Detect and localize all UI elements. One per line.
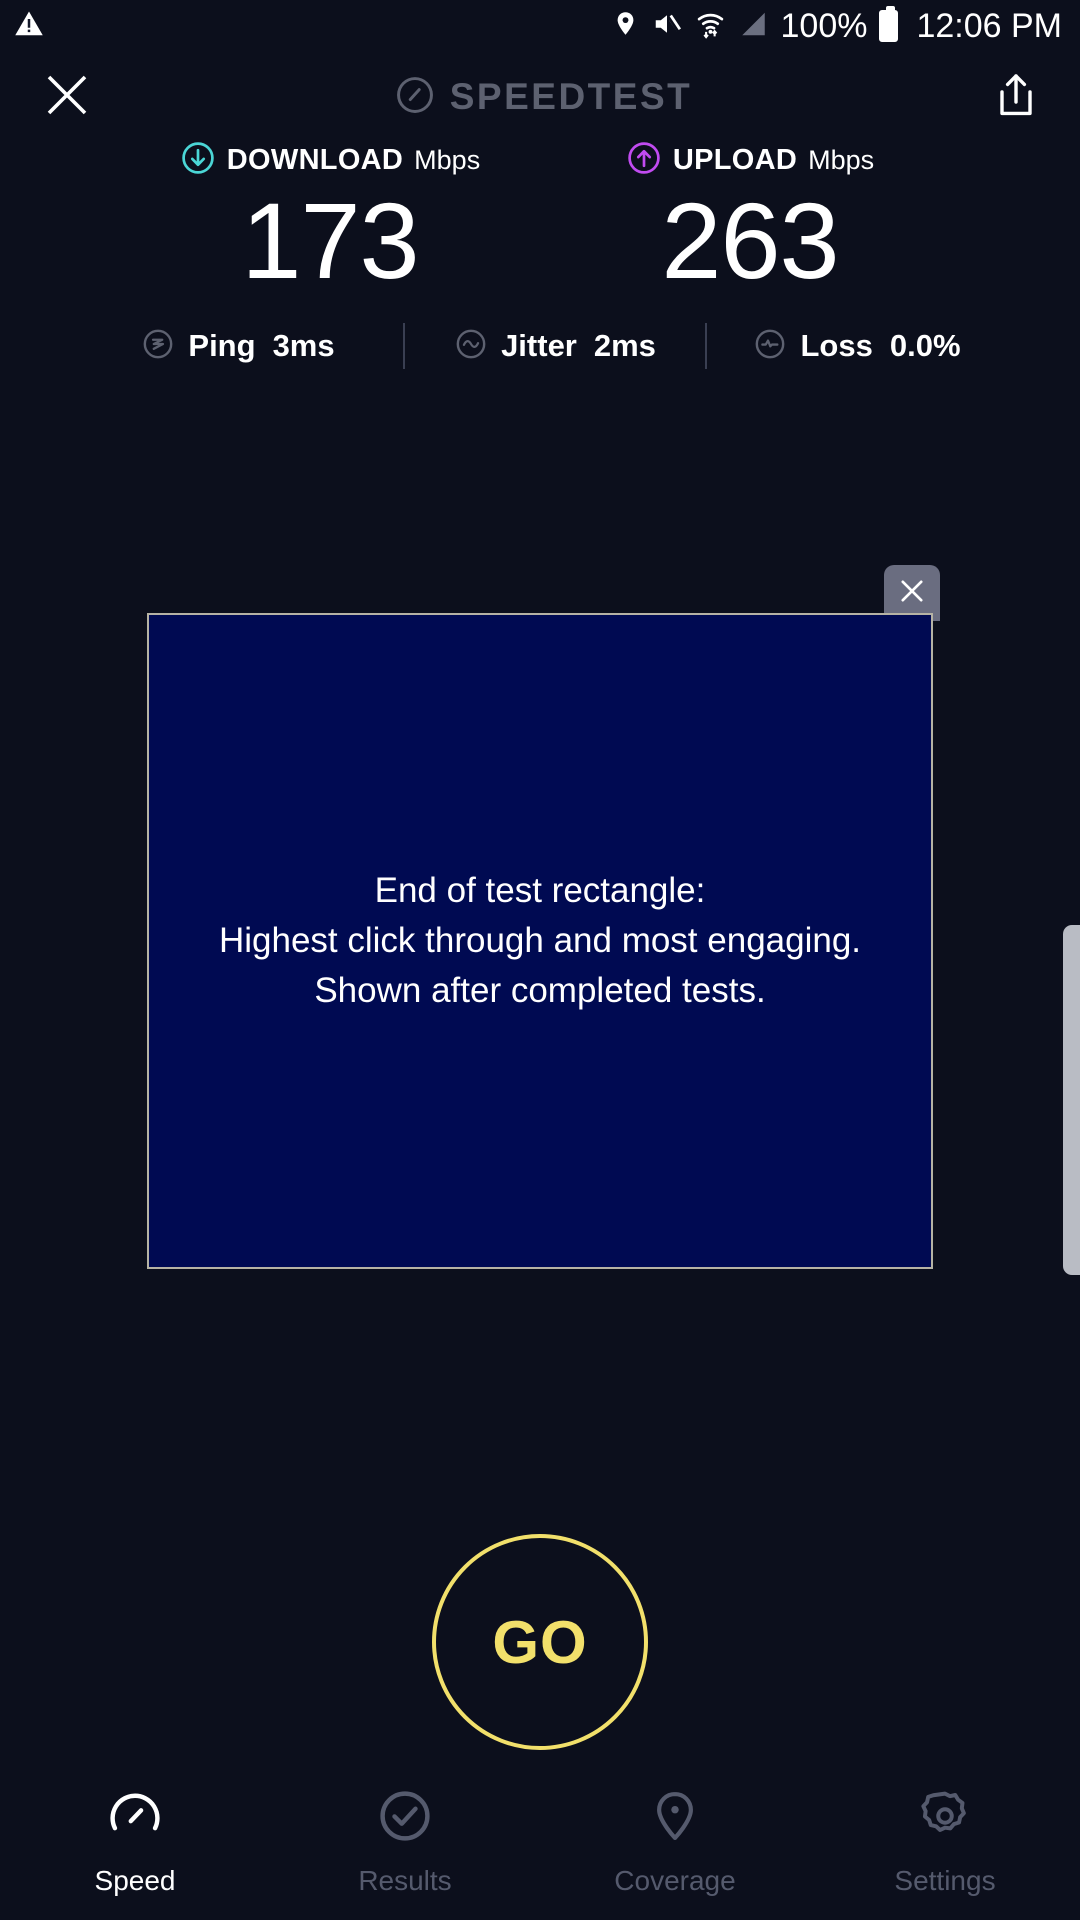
nav-label-speed: Speed — [95, 1865, 176, 1897]
close-icon[interactable] — [40, 68, 94, 127]
nav-item-settings[interactable]: Settings — [810, 1770, 1080, 1920]
close-icon — [895, 574, 929, 613]
jitter-value: 2ms — [594, 328, 656, 364]
jitter-metric: Jitter 2ms — [405, 327, 705, 366]
ping-label: Ping — [188, 328, 255, 364]
status-bar: 100% 12:06 PM — [0, 0, 1080, 52]
upload-metric: UPLOAD Mbps 263 — [585, 140, 915, 295]
page-title: SPEEDTEST — [450, 76, 693, 118]
upload-metric-header: UPLOAD Mbps — [626, 140, 874, 181]
download-metric: DOWNLOAD Mbps 173 — [165, 140, 495, 295]
jitter-icon — [454, 327, 488, 366]
upload-arrow-icon — [626, 140, 662, 181]
clock-label: 12:06 PM — [916, 7, 1062, 46]
check-circle-icon — [377, 1788, 433, 1849]
nav-item-speed[interactable]: Speed — [0, 1770, 270, 1920]
status-bar-right: 100% 12:06 PM — [612, 7, 1063, 46]
loss-icon — [753, 327, 787, 366]
loss-label: Loss — [800, 328, 872, 364]
volume-muted-icon — [651, 9, 683, 44]
nav-item-results[interactable]: Results — [270, 1770, 540, 1920]
download-arrow-icon — [180, 140, 216, 181]
app-header: SPEEDTEST — [0, 52, 1080, 142]
vertical-scrollbar[interactable] — [1063, 925, 1080, 1275]
nav-label-settings: Settings — [894, 1865, 995, 1897]
location-pin-icon — [647, 1788, 703, 1849]
cellular-signal-icon — [738, 9, 769, 44]
ping-value: 3ms — [273, 328, 335, 364]
location-pin-icon — [612, 8, 639, 44]
advertisement-banner[interactable]: End of test rectangle: Highest click thr… — [147, 613, 933, 1269]
jitter-label: Jitter — [501, 328, 577, 364]
app-brand: SPEEDTEST — [394, 74, 693, 121]
ad-line-2: Highest click through and most engaging. — [219, 916, 861, 966]
battery-percent-label: 100% — [781, 7, 868, 46]
wifi-icon — [695, 8, 726, 44]
loss-metric: Loss 0.0% — [707, 327, 1007, 366]
download-unit: Mbps — [414, 145, 480, 176]
ad-text-block: End of test rectangle: Highest click thr… — [219, 866, 861, 1015]
status-bar-left — [14, 9, 44, 44]
upload-value: 263 — [661, 187, 838, 295]
download-metric-header: DOWNLOAD Mbps — [180, 140, 480, 181]
speedtest-app-screen: 100% 12:06 PM SPEEDTEST — [0, 0, 1080, 1920]
loss-value: 0.0% — [890, 328, 961, 364]
nav-item-coverage[interactable]: Coverage — [540, 1770, 810, 1920]
test-results-panel: DOWNLOAD Mbps 173 UPLOAD Mbps 263 — [0, 140, 1080, 369]
ping-metric: Ping 3ms — [73, 327, 403, 366]
share-icon[interactable] — [992, 69, 1040, 126]
nav-label-coverage: Coverage — [614, 1865, 735, 1897]
speedometer-icon — [107, 1788, 163, 1849]
upload-unit: Mbps — [808, 145, 874, 176]
download-label: DOWNLOAD — [227, 144, 403, 177]
upload-label: UPLOAD — [673, 144, 797, 177]
warning-triangle-icon — [14, 9, 44, 44]
download-value: 173 — [241, 187, 418, 295]
go-button[interactable]: GO — [432, 1534, 648, 1750]
network-quality-row: Ping 3ms Jitter 2ms — [0, 323, 1080, 369]
ad-line-1: End of test rectangle: — [219, 866, 861, 916]
nav-label-results: Results — [358, 1865, 451, 1897]
ping-icon — [141, 327, 175, 366]
ad-line-3: Shown after completed tests. — [219, 966, 861, 1016]
speedometer-icon — [394, 74, 436, 121]
battery-full-icon — [879, 10, 898, 42]
bottom-navigation-bar: Speed Results Coverage — [0, 1770, 1080, 1920]
go-button-label: GO — [492, 1608, 587, 1677]
gear-icon — [917, 1788, 973, 1849]
speed-metrics-row: DOWNLOAD Mbps 173 UPLOAD Mbps 263 — [0, 140, 1080, 295]
